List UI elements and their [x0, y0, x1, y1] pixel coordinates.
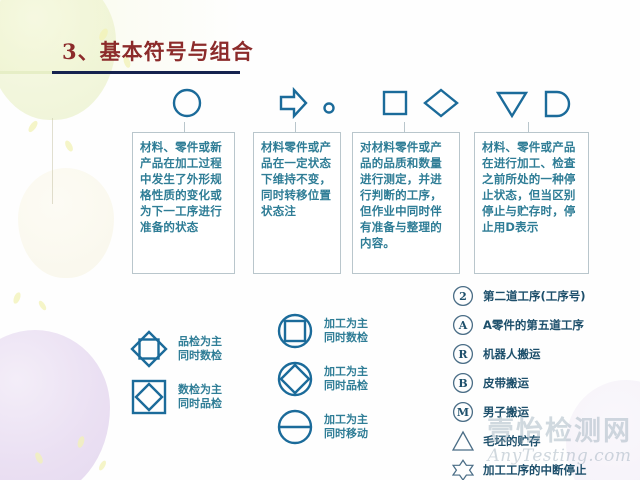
slide-canvas: 3、基本符号与组合: [0, 0, 640, 480]
circle-symbol-icon: [170, 86, 204, 120]
confetti-dot: [37, 300, 47, 312]
code-letter: 2: [452, 285, 474, 307]
list-item-label: A零件的第五道工序: [483, 318, 584, 332]
combination-group-left: 品检为主 同时数检 数检为主 同时品检: [130, 330, 222, 426]
symbol-group-transport: [277, 86, 337, 120]
connector-line: [404, 122, 405, 132]
description-box-processing: 材料、零件或新产品在加工过程中发生了外形规格性质的变化或为下一工序进行准备的状态: [132, 132, 235, 274]
list-item: A A零件的第五道工序: [452, 314, 587, 336]
line-in-circle-icon: [276, 408, 314, 446]
diamond-in-circle-icon: [276, 360, 314, 398]
combination-group-middle: 加工为主 同时数检 加工为主 同时品检 加工为主 同时移动: [276, 312, 368, 456]
square-in-circle-icon: [276, 312, 314, 350]
triangle-up-icon: [452, 430, 474, 452]
list-item: 加工工序的中断停止: [452, 459, 587, 480]
list-item-label: 毛坯的贮存: [483, 434, 541, 448]
connector-line: [528, 122, 529, 132]
symbol-row: [0, 86, 640, 130]
connector-line: [184, 122, 185, 132]
diamond-in-square-icon: [130, 330, 168, 368]
confetti-dot: [34, 451, 45, 464]
list-item-label: 男子搬运: [483, 405, 529, 419]
circle-code-icon: R: [452, 343, 474, 365]
title-rule-pale: [0, 71, 52, 74]
combination-group-right: 2 第二道工序(工序号) A A零件的第五道工序 R 机器人搬运: [452, 285, 587, 480]
connector-line: [295, 122, 296, 132]
description-box-transport: 材料零件或产品在一定状态下维持不变，同时转移位置状态注: [253, 132, 341, 274]
confetti-dot: [64, 139, 75, 152]
balloon-string: [52, 118, 78, 204]
six-point-star-icon: [452, 459, 474, 480]
list-item: 毛坯的贮存: [452, 430, 587, 452]
list-item-label: 加工为主 同时品检: [324, 365, 368, 393]
circle-code-icon: A: [452, 314, 474, 336]
list-item-label: 品检为主 同时数检: [178, 335, 222, 363]
symbol-group-processing: [170, 86, 204, 120]
d-shape-symbol-icon: [541, 86, 575, 120]
list-item-label: 数检为主 同时品检: [178, 383, 222, 411]
diamond-symbol-icon: [422, 86, 460, 120]
list-item-label: 加工为主 同时移动: [324, 413, 368, 441]
list-item-label: 第二道工序(工序号): [483, 289, 586, 303]
triangle-down-symbol-icon: [495, 86, 529, 120]
arrow-right-symbol-icon: [277, 86, 309, 120]
code-letter: R: [452, 343, 474, 365]
small-circle-symbol-icon: [321, 86, 337, 120]
list-item: 品检为主 同时数检: [130, 330, 222, 368]
list-item-label: 加工为主 同时数检: [324, 317, 368, 345]
square-in-diamond-icon: [130, 378, 168, 416]
list-item: 加工为主 同时数检: [276, 312, 368, 350]
list-item: 加工为主 同时品检: [276, 360, 368, 398]
page-title: 3、基本符号与组合: [62, 36, 254, 66]
code-letter: M: [452, 401, 474, 423]
code-letter: B: [452, 372, 474, 394]
code-letter: A: [452, 314, 474, 336]
symbol-group-delay: [495, 86, 575, 120]
list-item: 2 第二道工序(工序号): [452, 285, 587, 307]
list-item-label: 机器人搬运: [483, 347, 541, 361]
list-item: 数检为主 同时品检: [130, 378, 222, 416]
square-symbol-icon: [380, 86, 410, 120]
list-item-label: 加工工序的中断停止: [483, 463, 587, 477]
confetti-dot: [12, 291, 22, 304]
list-item: R 机器人搬运: [452, 343, 587, 365]
list-item: M 男子搬运: [452, 401, 587, 423]
description-box-delay: 材料、零件或产品在进行加工、检查之前所处的一种停止状态，但当区别停止与贮存时，停…: [474, 132, 589, 274]
description-box-inspection: 对材料零件或产品的品质和数量进行测定，并进行判断的工序，但作业中同时伴有准备与整…: [352, 132, 460, 274]
title-underline-rule: [52, 71, 240, 74]
confetti-dot: [76, 435, 85, 448]
symbol-group-inspection: [380, 86, 460, 120]
circle-code-icon: M: [452, 401, 474, 423]
list-item: 加工为主 同时移动: [276, 408, 368, 446]
balloon-cream-icon: [18, 168, 114, 278]
six-star-icon: [452, 459, 474, 480]
list-item: B 皮带搬运: [452, 372, 587, 394]
balloon-purple-icon: [0, 330, 110, 480]
triangle-outline-icon: [452, 430, 474, 452]
circle-code-icon: B: [452, 372, 474, 394]
circle-code-icon: 2: [452, 285, 474, 307]
list-item-label: 皮带搬运: [483, 376, 529, 390]
confetti-dot: [98, 459, 108, 471]
